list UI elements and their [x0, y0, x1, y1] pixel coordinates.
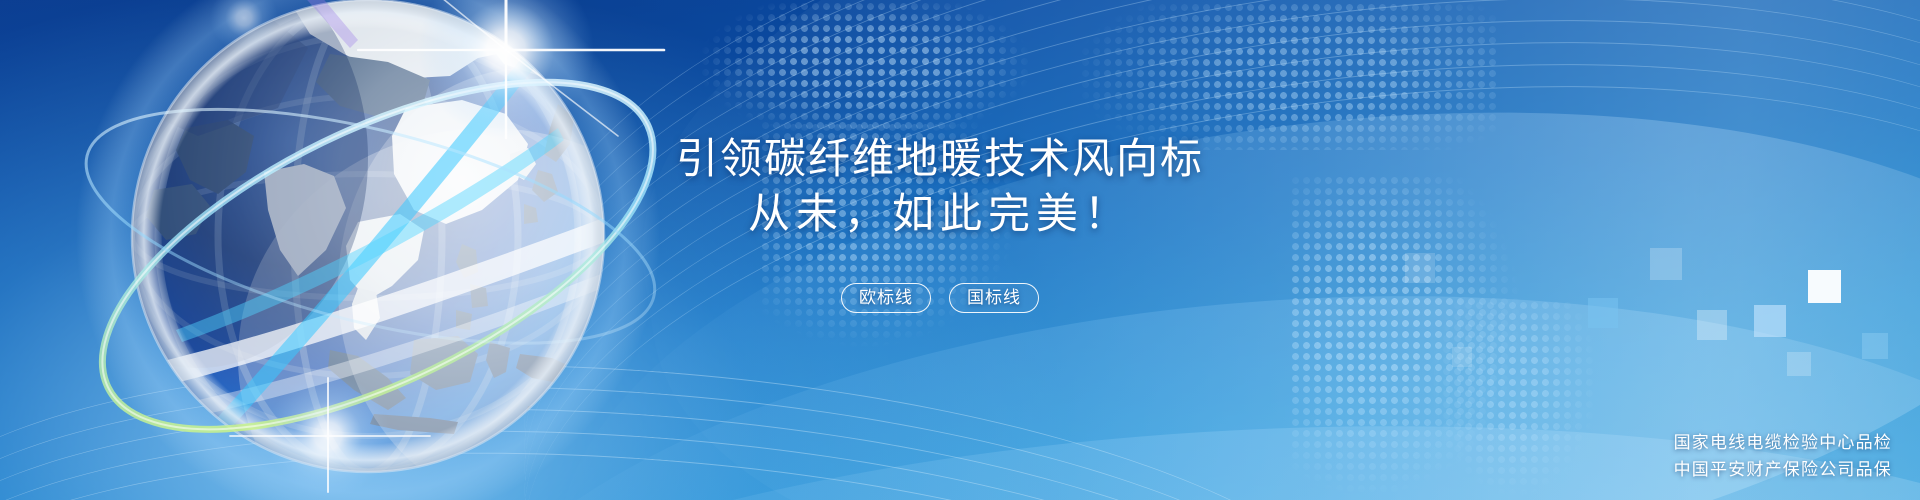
light-sweep-band	[590, 0, 1920, 500]
headline-line-1: 引领碳纤维地暖技术风向标	[640, 132, 1240, 187]
hairline-arc	[479, 0, 1920, 500]
hairline-arc	[479, 0, 1920, 500]
headline-block: 引领碳纤维地暖技术风向标 从未，如此完美！	[640, 132, 1240, 241]
decorative-square	[1787, 352, 1811, 376]
decorative-square	[1697, 310, 1727, 340]
promo-banner: 引领碳纤维地暖技术风向标 从未，如此完美！ 欧标线国标线 国家电线电缆检验中心品…	[0, 0, 1920, 500]
hairline-arc	[479, 0, 1920, 500]
decorative-square	[1650, 248, 1682, 280]
dot-matrix-map	[1080, 0, 1500, 150]
hairline-arc	[479, 0, 1920, 500]
hairline-arc	[479, 0, 1920, 500]
badge-2[interactable]: 国标线	[949, 283, 1039, 313]
hairline-arc	[479, 0, 1920, 500]
footer-line-2: 中国平安财产保险公司品保	[1674, 457, 1892, 484]
hairline-arc	[479, 0, 1920, 500]
hairline-arc	[479, 0, 1920, 500]
decorative-square	[1452, 347, 1472, 367]
decorative-square	[1754, 305, 1786, 337]
decorative-square	[1405, 253, 1435, 283]
hairline-arc	[479, 0, 1920, 500]
hairline-arc	[479, 0, 1920, 500]
badge-1[interactable]: 欧标线	[841, 283, 931, 313]
dot-matrix-map	[700, 0, 1030, 140]
footer-line-1: 国家电线电缆检验中心品检	[1674, 430, 1892, 457]
earth-globe	[58, 0, 678, 500]
certification-footer: 国家电线电缆检验中心品检 中国平安财产保险公司品保	[1674, 430, 1892, 484]
decorative-square	[1862, 333, 1888, 359]
decorative-square	[1808, 270, 1841, 303]
decorative-square	[1588, 298, 1618, 328]
headline-line-2: 从未，如此完美！	[640, 187, 1240, 242]
hairline-arc	[479, 0, 1920, 500]
dot-matrix-map	[1430, 300, 1600, 500]
dot-matrix-map	[1290, 175, 1520, 495]
badge-row: 欧标线国标线	[640, 283, 1240, 313]
hairline-arc	[479, 0, 1920, 500]
